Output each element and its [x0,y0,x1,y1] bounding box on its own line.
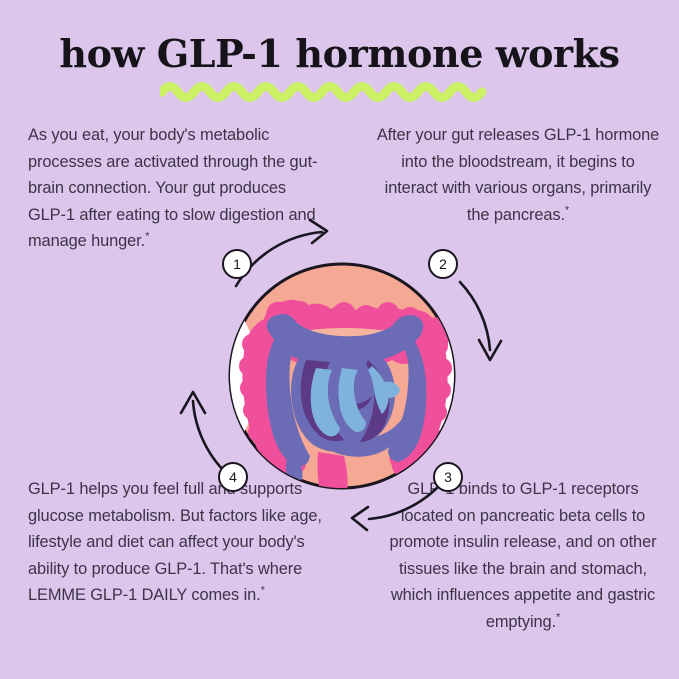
step-3-text: GLP-1 binds to GLP-1 receptors located o… [380,476,666,635]
colon-lightblue-loops [311,366,400,436]
step-4-text: GLP-1 helps you feel full and supports g… [28,476,328,609]
badge-3-label: 3 [444,469,452,485]
step-3-body: GLP-1 binds to GLP-1 receptors located o… [390,480,657,631]
step-2-text: After your gut releases GLP-1 hormone in… [376,122,660,228]
badge-2-label: 2 [439,256,447,272]
badge-4-label: 4 [229,469,237,485]
page-title: how GLP-1 hormone works [0,34,679,74]
step-1-text: As you eat, your body's metabolic proces… [28,122,320,255]
arrow-right-down [460,282,501,360]
step-1-footnote-mark: * [145,231,149,243]
colon-purple-shadow [301,360,389,442]
badge-2[interactable]: 2 [429,250,457,278]
badge-1[interactable]: 1 [223,250,251,278]
step-4-body: GLP-1 helps you feel full and supports g… [28,480,322,604]
step-badges: 1 2 3 4 [219,250,462,491]
step-2-footnote-mark: * [565,204,569,216]
wavy-underline-icon [160,78,490,104]
step-3-footnote-mark: * [556,611,560,623]
step-2-body: After your gut releases GLP-1 hormone in… [377,126,659,224]
badge-3[interactable]: 3 [434,463,462,491]
colon-blue-band [266,314,426,466]
title-block: how GLP-1 hormone works [0,34,679,74]
colon-inner-gap [280,328,412,352]
badge-1-label: 1 [233,256,241,272]
arrow-left-up [181,392,226,473]
badge-4[interactable]: 4 [219,463,247,491]
step-4-footnote-mark: * [261,585,265,597]
infographic-poster: how GLP-1 hormone works As you eat, your… [0,0,679,679]
highlight-crescent-right [426,300,462,452]
highlight-crescent-left [222,300,258,452]
step-1-body: As you eat, your body's metabolic proces… [28,126,317,250]
